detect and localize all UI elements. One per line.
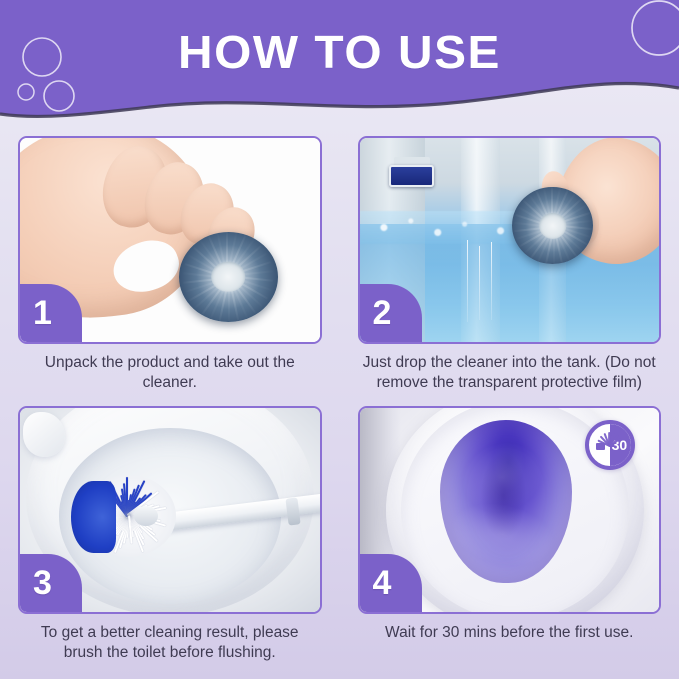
cleaner-tablet-icon: [512, 187, 593, 265]
steps-grid: 1 Unpack the product and take out the cl…: [0, 130, 679, 679]
step-1-caption: Unpack the product and take out the clea…: [18, 353, 322, 392]
step-2-caption: Just drop the cleaner into the tank. (Do…: [358, 353, 662, 392]
infographic-page: HOW TO USE 1 Unpack t: [0, 0, 679, 679]
step-4-photo: 30 4: [358, 406, 662, 614]
brush-blue-bristles: [71, 481, 116, 552]
header-banner: HOW TO USE: [0, 0, 679, 130]
step-2-photo: 2: [358, 136, 662, 344]
step-3-caption: To get a better cleaning result, please …: [18, 623, 322, 662]
step-card-4: 30 4 Wait for 30 mins before the first u…: [340, 400, 679, 670]
step-card-2: 2 Just drop the cleaner into the tank. (…: [340, 130, 679, 400]
step-card-3: 3 To get a better cleaning result, pleas…: [0, 400, 340, 670]
step-card-1: 1 Unpack the product and take out the cl…: [0, 130, 340, 400]
step-3-photo: 3: [18, 406, 322, 614]
cleaner-tablet-icon: [179, 232, 278, 322]
step-1-photo: 1: [18, 136, 322, 344]
step-4-caption: Wait for 30 mins before the first use.: [358, 623, 662, 643]
tank-float-valve: [389, 165, 434, 187]
timer-30-min-icon: 30: [585, 420, 635, 470]
page-title: HOW TO USE: [0, 26, 679, 78]
